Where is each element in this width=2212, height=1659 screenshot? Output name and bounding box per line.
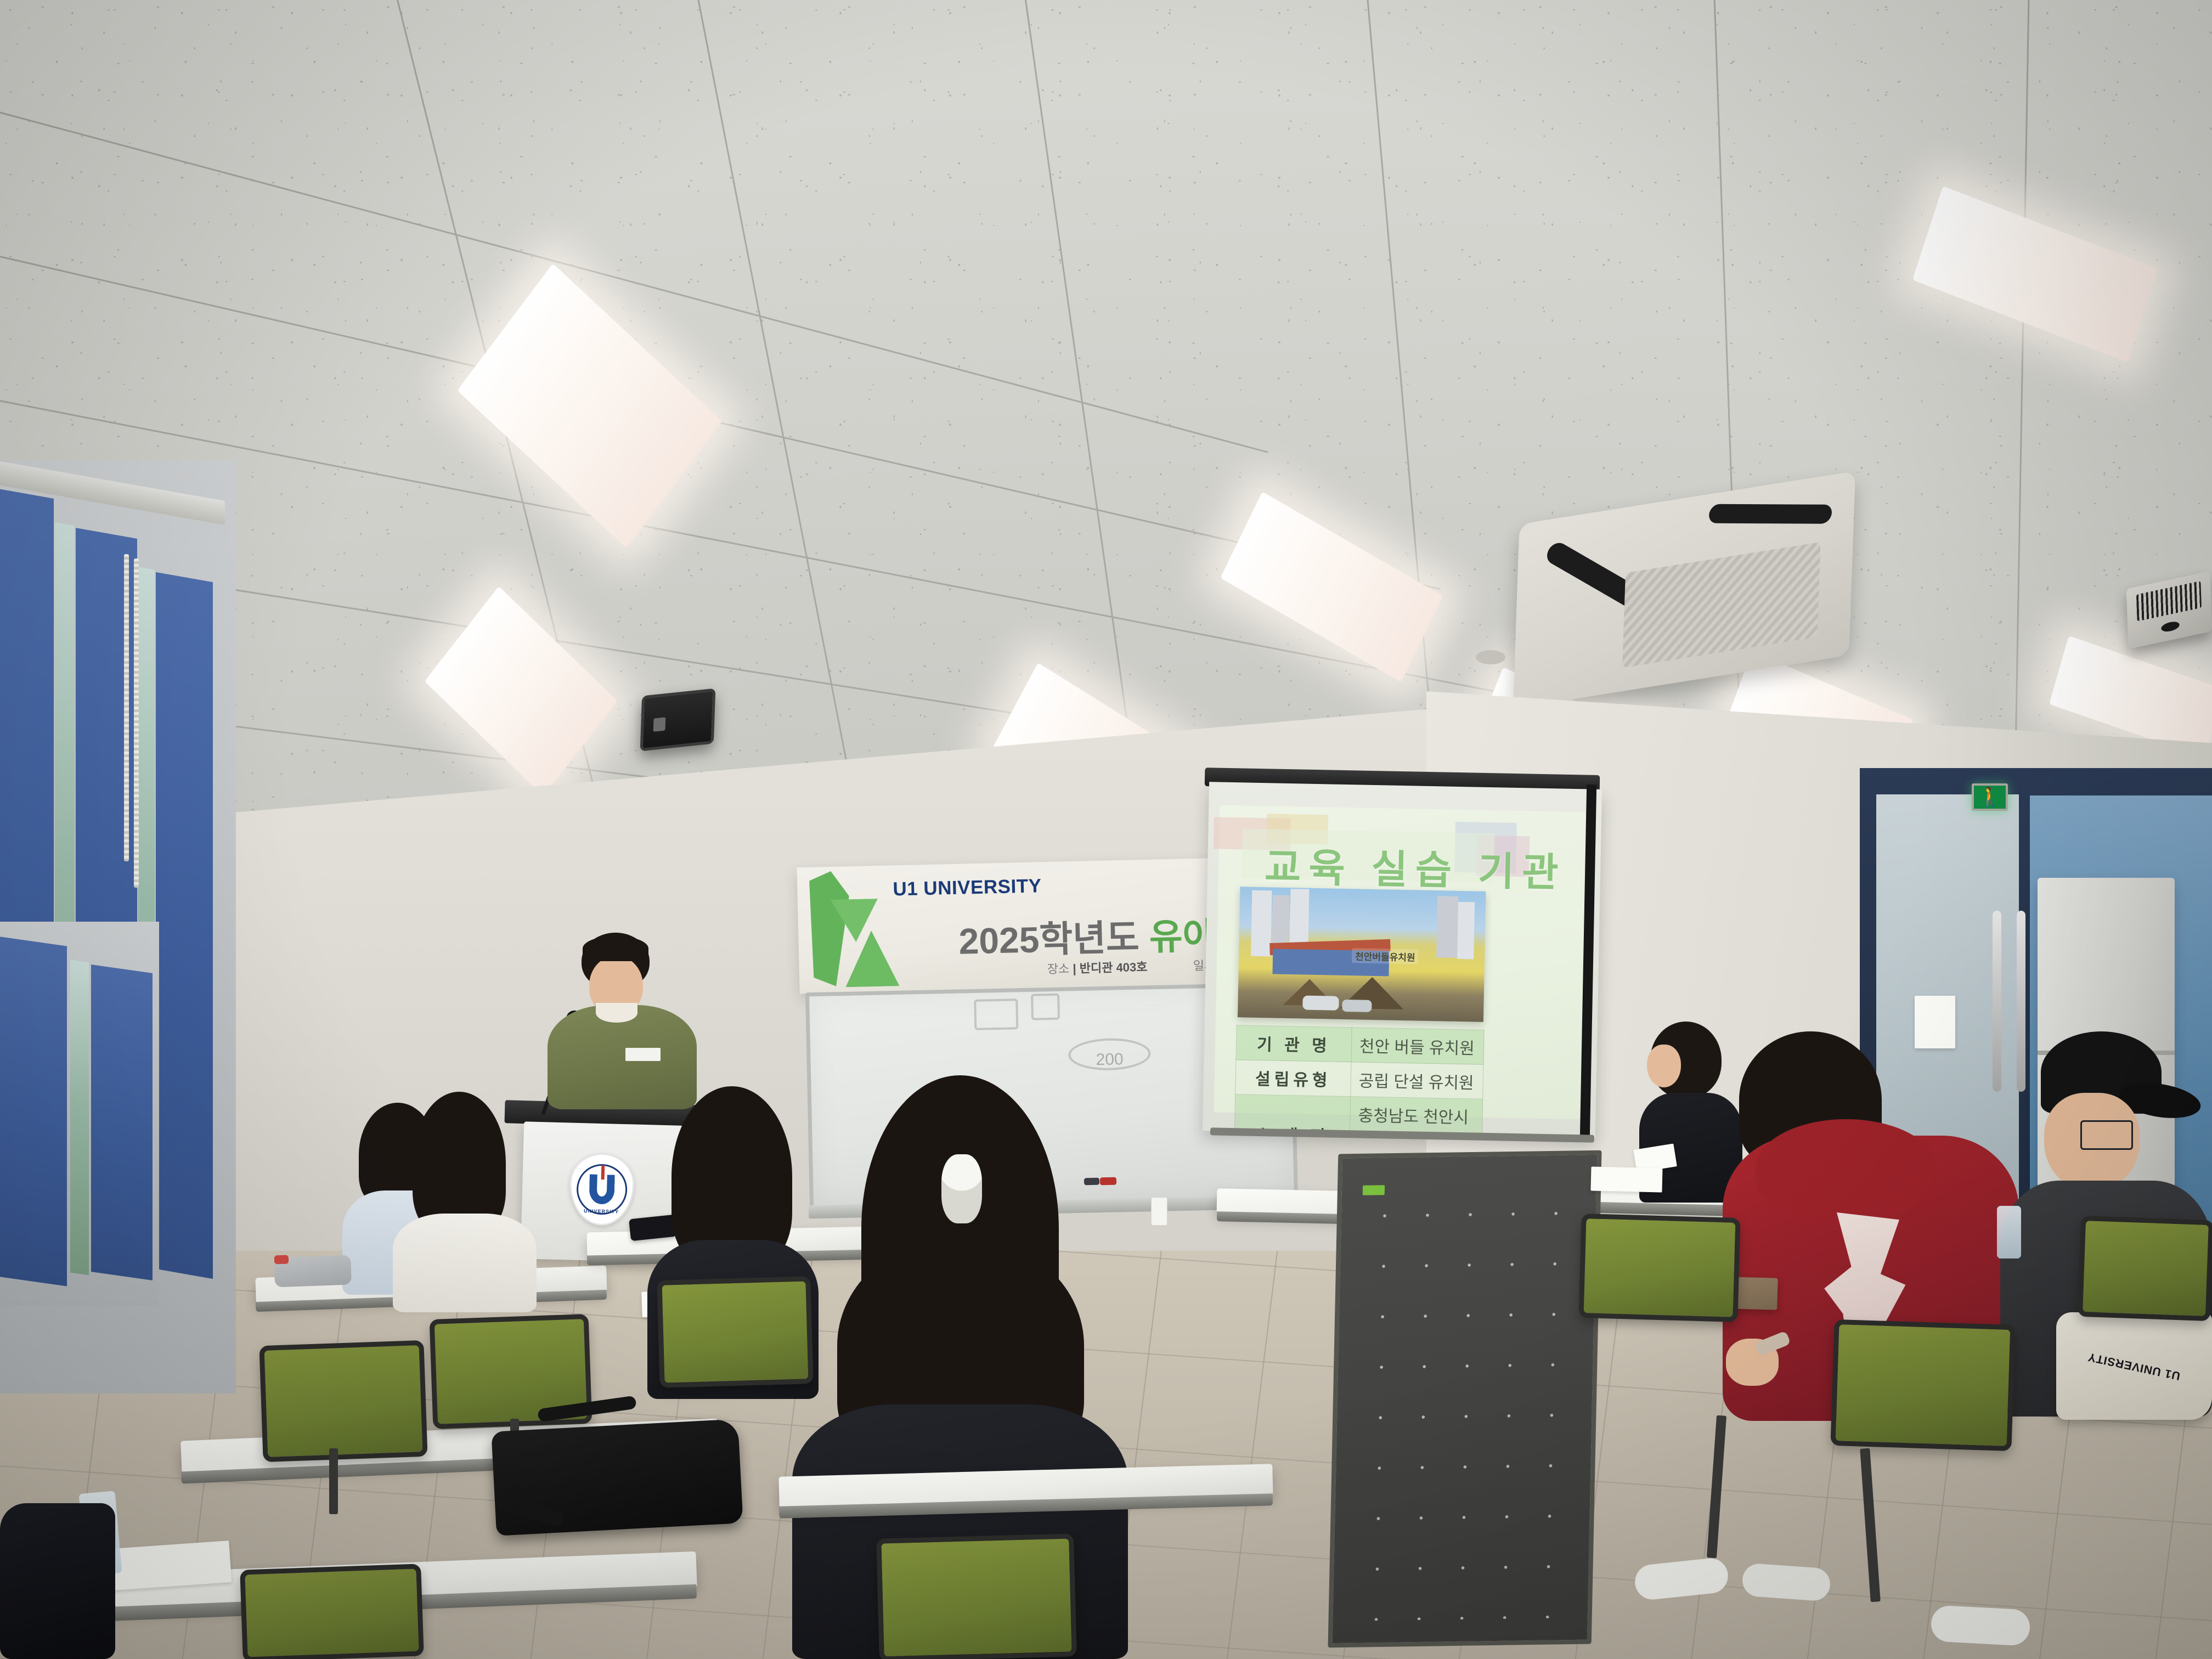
classroom-chair[interactable] xyxy=(1578,1214,1740,1322)
table-row: 기 관 명 천안 버들 유치원 xyxy=(1236,1025,1484,1065)
banner-place-label: 장소 xyxy=(1047,962,1070,976)
blind-chain[interactable] xyxy=(124,554,129,861)
window-blind[interactable] xyxy=(0,936,67,1286)
window-blind[interactable] xyxy=(156,572,213,1279)
water-bottle[interactable] xyxy=(1997,1206,2021,1259)
presenter-name-badge xyxy=(625,1048,661,1061)
banner-place-sep: | xyxy=(1073,962,1080,975)
hood xyxy=(1756,1119,1937,1218)
row-key: 설립유형 xyxy=(1235,1060,1351,1097)
whiteboard-marks xyxy=(1031,994,1060,1020)
ac-vent xyxy=(1707,504,1833,524)
projector-lens xyxy=(2161,620,2180,633)
banner-place: 장소 | 반디관 403호 xyxy=(1047,957,1147,977)
tote-print-text: U1 UNIVERSITY xyxy=(2087,1350,2182,1382)
window-blind[interactable] xyxy=(91,964,153,1280)
ceiling-speaker xyxy=(640,688,716,751)
backpack[interactable] xyxy=(0,1503,115,1659)
emblem-u-mark xyxy=(589,1175,615,1205)
slide-photo-sign: 천안버들유치원 xyxy=(1352,948,1419,964)
slide-photo-car xyxy=(1302,996,1339,1011)
row-value: 천안 버들 유치원 xyxy=(1351,1028,1484,1065)
row-value: 공립 단설 유치원 xyxy=(1351,1062,1483,1099)
hair-clip xyxy=(941,1154,982,1223)
row-key: 기 관 명 xyxy=(1236,1025,1352,1062)
banner-logo-shape xyxy=(844,930,899,987)
classroom-chair[interactable] xyxy=(259,1340,427,1462)
slide: 교육 실습 기관 천안버들유치원 기 관 명 xyxy=(1214,805,1591,1120)
podium-emblem: UNIVERSITY xyxy=(568,1152,635,1226)
ceiling-sprinkler xyxy=(1476,650,1505,664)
eyeglasses xyxy=(2080,1120,2133,1150)
table-modesty-panel xyxy=(1328,1150,1601,1648)
window-lower-section xyxy=(0,922,159,1306)
banner-title-year: 2025학년도 xyxy=(958,917,1140,961)
table-row: 설립유형 공립 단설 유치원 xyxy=(1235,1060,1483,1099)
emergency-exit-sign: 🚶 xyxy=(1972,783,2008,811)
chair-leg xyxy=(329,1448,338,1514)
student-front-left-2 xyxy=(391,1092,539,1311)
ac-grille xyxy=(1622,542,1821,668)
slide-photo: 천안버들유치원 xyxy=(1238,887,1486,1022)
blouse xyxy=(393,1214,537,1312)
classroom-chair[interactable] xyxy=(1830,1319,2015,1451)
emblem-text: UNIVERSITY xyxy=(578,1208,625,1215)
pencil-case-zip xyxy=(274,1255,289,1265)
classroom-chair[interactable] xyxy=(876,1533,1077,1659)
banner-logo-shape xyxy=(809,871,851,987)
presenter-hair-front xyxy=(583,936,648,961)
notebook[interactable] xyxy=(103,1541,232,1591)
projection-screen: 교육 실습 기관 천안버들유치원 기 관 명 xyxy=(1203,782,1602,1138)
classroom-chair[interactable] xyxy=(240,1564,424,1659)
slide-info-table: 기 관 명 천안 버들 유치원 설립유형 공립 단설 유치원 소 재 지 충청남… xyxy=(1233,1025,1484,1138)
panel-perforations xyxy=(1355,1188,1575,1621)
running-man-icon: 🚶 xyxy=(1978,788,2001,806)
banner-place-value: 반디관 403호 xyxy=(1079,960,1147,975)
window-glass xyxy=(70,960,89,1276)
handout[interactable] xyxy=(1590,1166,1662,1192)
slide-photo-car xyxy=(1342,1000,1372,1012)
banner-org-text: U1 UNIVERSITY xyxy=(893,875,1042,900)
classroom-chair[interactable] xyxy=(2078,1216,2212,1321)
shoe xyxy=(1930,1605,2030,1646)
shoe xyxy=(1741,1562,1831,1601)
blind-chain[interactable] xyxy=(134,558,139,888)
classroom-chair[interactable] xyxy=(657,1276,813,1388)
wall-outlet[interactable] xyxy=(1151,1197,1167,1226)
classroom-photo: U1 UNIVERSITY 2025학년도 유아교육과 학 장소 | 반디관 4… xyxy=(0,0,2212,1659)
slide-info-table-wrap: 기 관 명 천안 버들 유치원 설립유형 공립 단설 유치원 소 재 지 충청남… xyxy=(1233,1025,1484,1138)
emblem-ring: UNIVERSITY xyxy=(576,1164,628,1215)
whiteboard-marks xyxy=(974,998,1018,1030)
canvas-tote-bag[interactable]: U1 UNIVERSITY xyxy=(2056,1312,2212,1420)
inspection-sticker xyxy=(1363,1185,1385,1195)
projector-vent xyxy=(2136,581,2202,622)
face xyxy=(1647,1045,1681,1087)
presenter-collar xyxy=(596,1003,637,1023)
whiteboard-marks: 200 xyxy=(1096,1049,1156,1066)
